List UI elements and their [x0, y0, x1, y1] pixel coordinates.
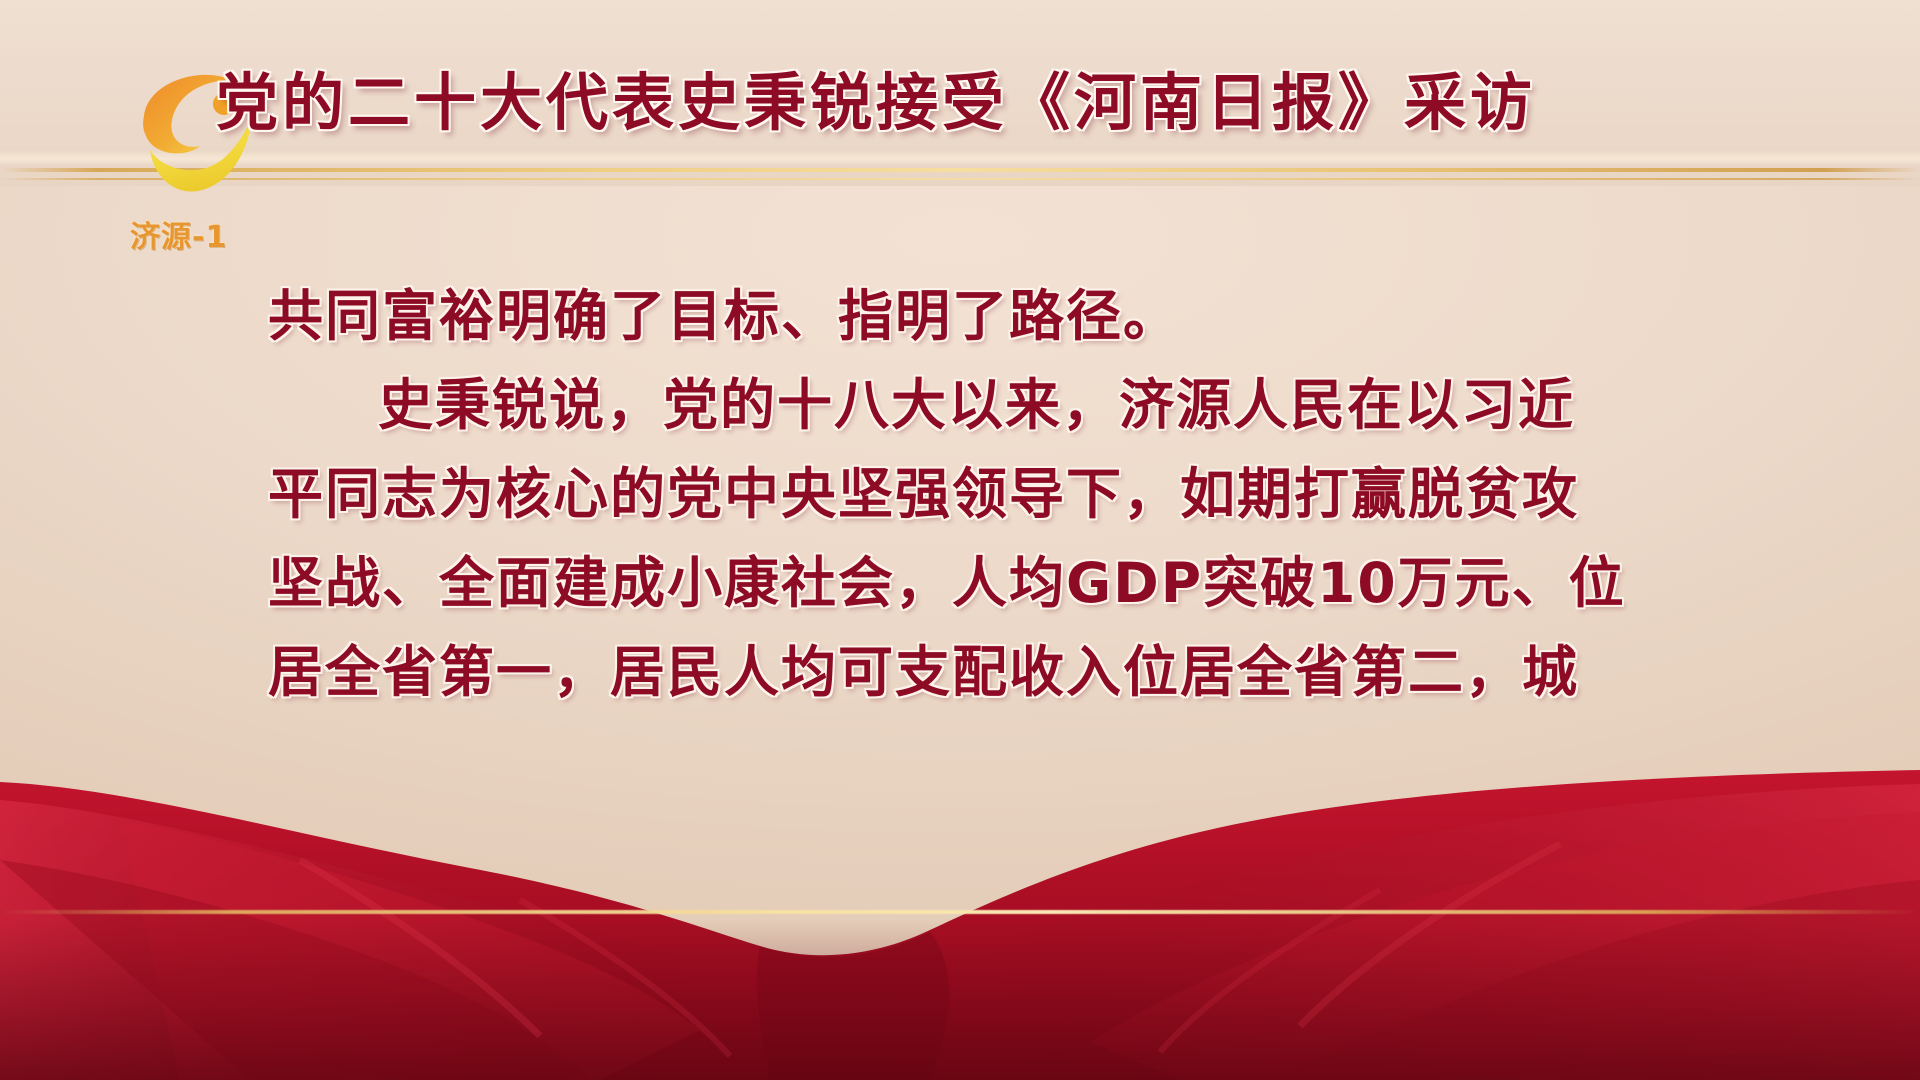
subtitle-body: 共同富裕明确了目标、指明了路径。 史秉锐说，党的十八大以来，济源人民在以习近 平… [268, 272, 1688, 717]
body-line: 坚战、全面建成小康社会，人均GDP突破10万元、位 [268, 539, 1688, 628]
banner-gold-divider-secondary [0, 178, 1920, 180]
headline-title: 党的二十大代表史秉锐接受《河南日报》采访 [216, 52, 1536, 142]
channel-identifier: 济源-1 [130, 212, 227, 256]
red-silk-drape-decoration [0, 740, 1920, 1080]
broadcast-lower-third-slate: 济源-1 党的二十大代表史秉锐接受《河南日报》采访 共同富裕明确了目标、指明了路… [0, 0, 1920, 1080]
body-line: 史秉锐说，党的十八大以来，济源人民在以习近 [268, 361, 1688, 450]
body-line: 平同志为核心的党中央坚强领导下，如期打赢脱贫攻 [268, 450, 1688, 539]
body-line: 居全省第一，居民人均可支配收入位居全省第二，城 [268, 628, 1688, 717]
body-line: 共同富裕明确了目标、指明了路径。 [268, 272, 1688, 361]
banner-gold-divider-primary [0, 168, 1920, 172]
